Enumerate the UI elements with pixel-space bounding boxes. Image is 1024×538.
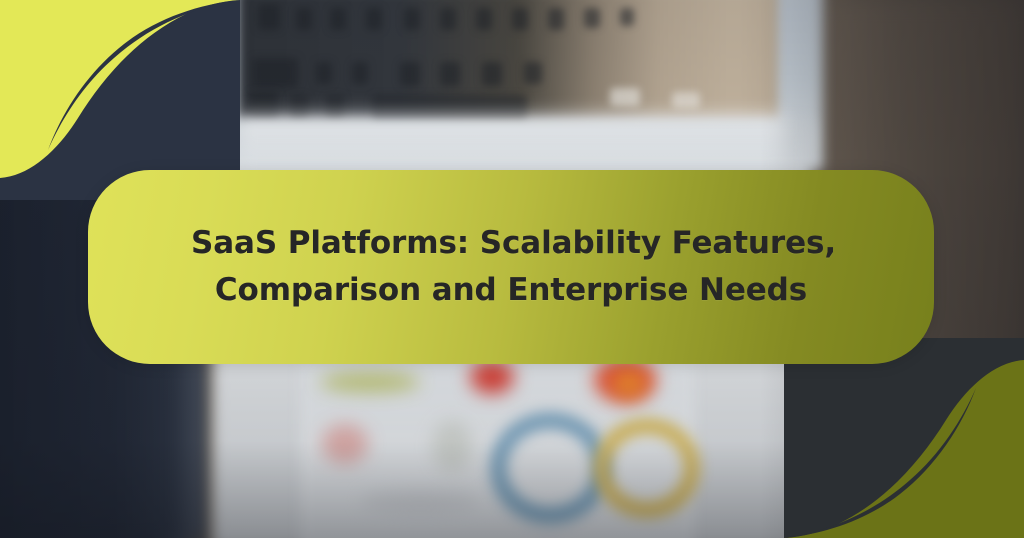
page-title: SaaS Platforms: Scalability Features, Co… xyxy=(191,220,831,314)
featured-image-canvas: SaaS Platforms: Scalability Features, Co… xyxy=(0,0,1024,538)
title-line-1: SaaS Platforms: Scalability Features, xyxy=(191,220,831,267)
title-card: SaaS Platforms: Scalability Features, Co… xyxy=(88,170,934,364)
title-line-2: Comparison and Enterprise Needs xyxy=(191,267,831,314)
